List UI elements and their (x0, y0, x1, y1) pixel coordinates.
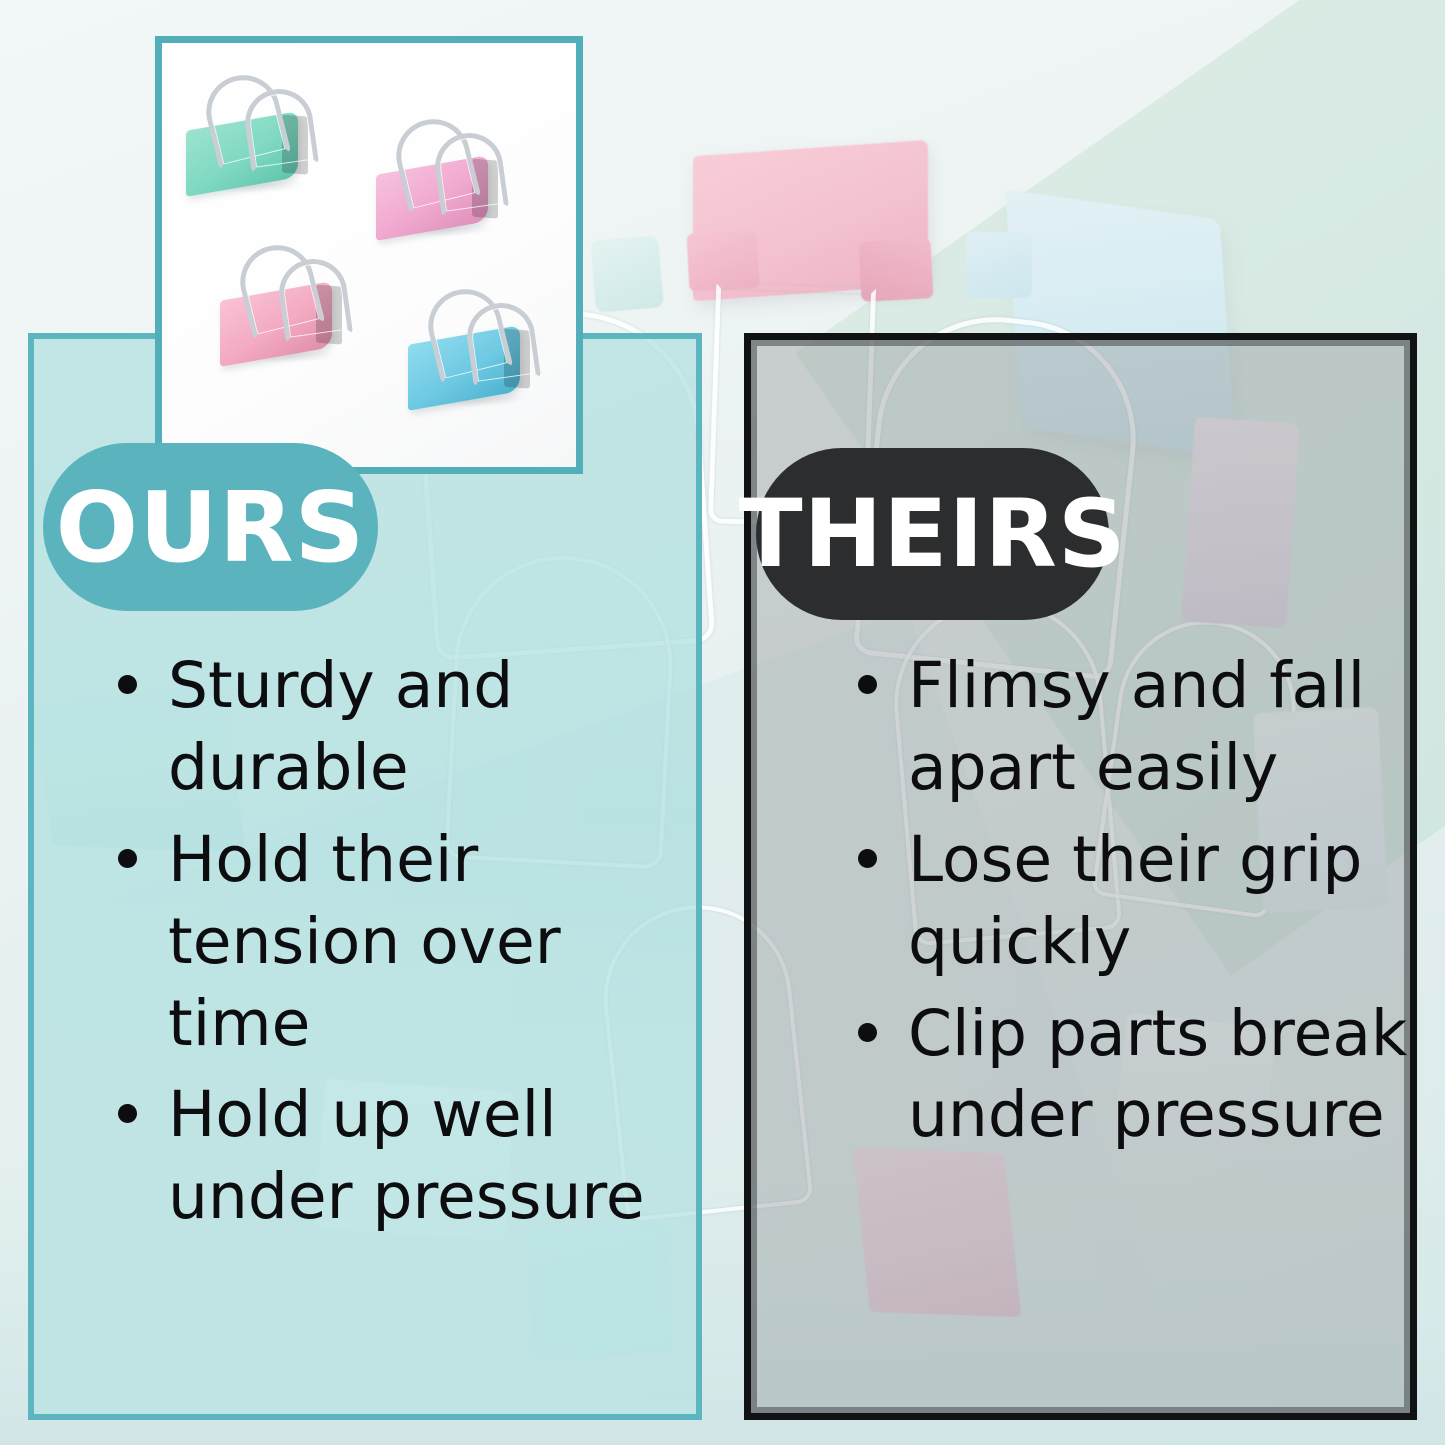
badge-ours: OURS (43, 443, 378, 611)
bullet-text: Hold their tension over time (168, 823, 561, 1060)
bullet-dot-icon (858, 849, 877, 868)
bullet-dot-icon (858, 1023, 877, 1042)
bullet-text: Clip parts break under pressure (908, 997, 1407, 1152)
bullet-dot-icon (858, 675, 877, 694)
pink-binder-clip (370, 113, 520, 243)
list-item: Hold up well under pressure (112, 1074, 672, 1238)
bullet-text: Flimsy and fall apart easily (908, 649, 1365, 804)
bullet-dot-icon (118, 1104, 137, 1123)
bullet-text: Sturdy and durable (168, 649, 513, 804)
product-photo-canvas (162, 43, 576, 467)
list-item: Flimsy and fall apart easily (852, 645, 1417, 809)
list-item: Clip parts break under pressure (852, 993, 1417, 1157)
bullet-text: Hold up well under pressure (168, 1078, 645, 1233)
mint-green-binder-clip (180, 69, 330, 199)
list-item: Hold their tension over time (112, 819, 672, 1065)
list-item: Sturdy and durable (112, 645, 672, 809)
comparison-infographic: OURS THEIRS Sturdy and durable Hold thei… (0, 0, 1445, 1445)
bullet-dot-icon (118, 849, 137, 868)
list-item: Lose their grip quickly (852, 819, 1417, 983)
bullet-dot-icon (118, 675, 137, 694)
badge-theirs: THEIRS (756, 448, 1109, 620)
product-photo-inset (155, 36, 583, 474)
bullet-text: Lose their grip quickly (908, 823, 1362, 978)
cyan-blue-binder-clip (402, 283, 552, 413)
bullet-list-theirs: Flimsy and fall apart easily Lose their … (852, 645, 1417, 1166)
rose-pink-binder-clip (214, 239, 364, 369)
bullet-list-ours: Sturdy and durable Hold their tension ov… (112, 645, 672, 1248)
